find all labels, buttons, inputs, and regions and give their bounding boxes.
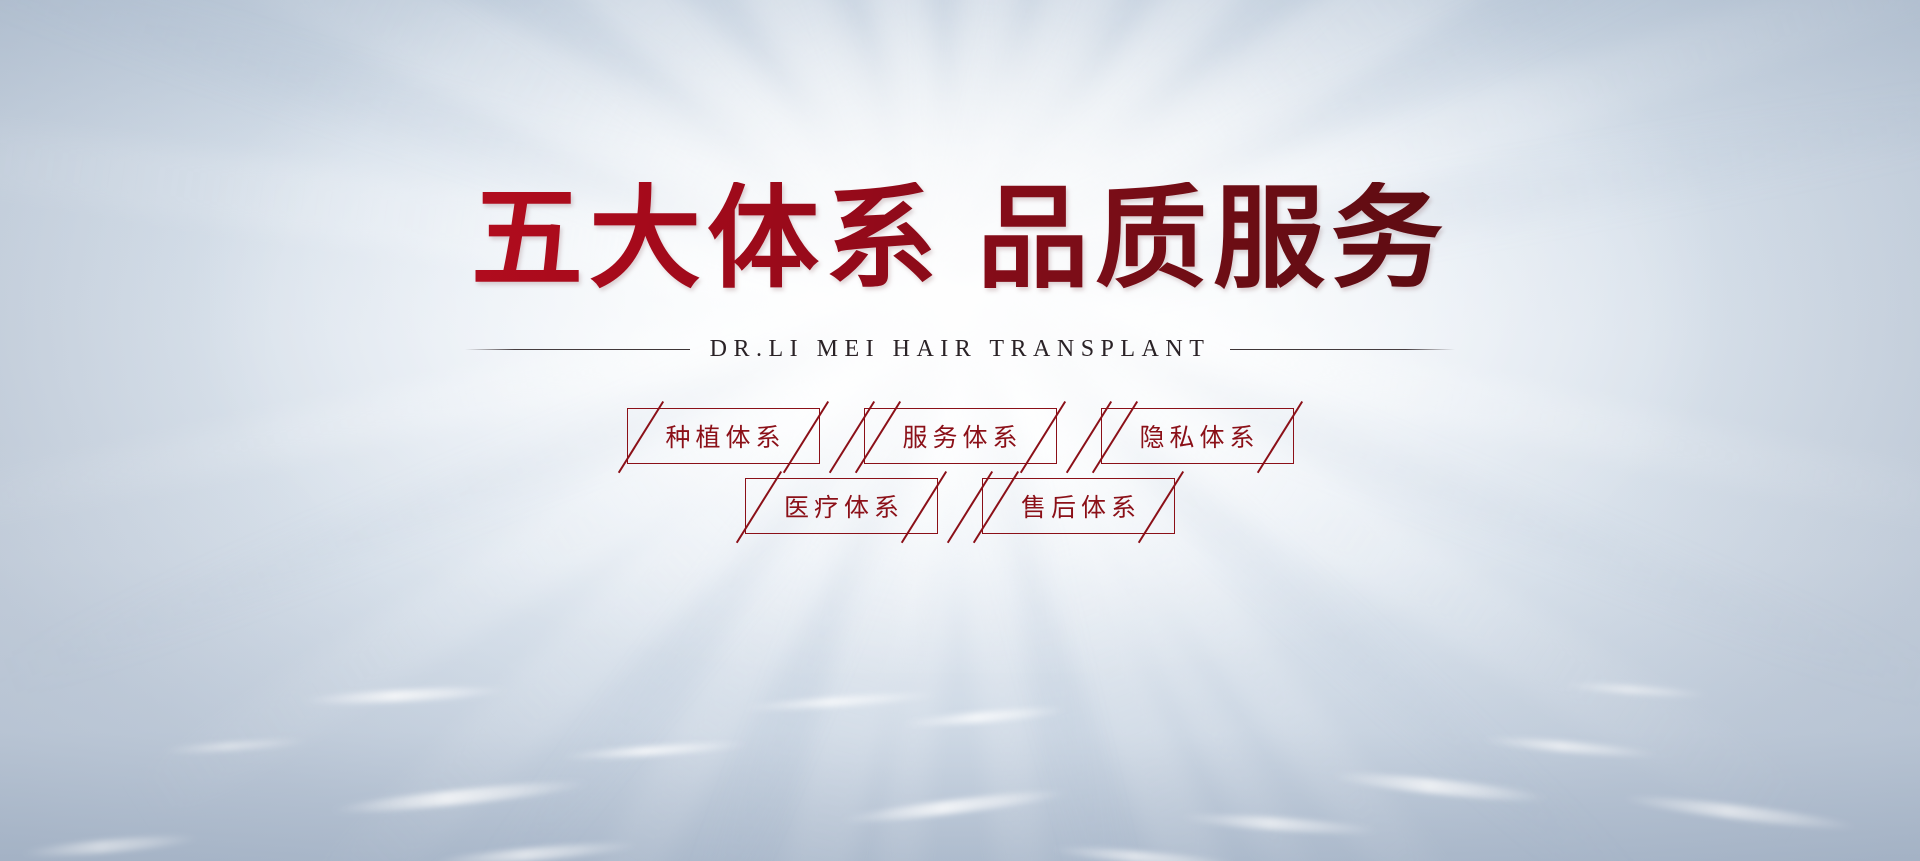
slash-icon (1257, 401, 1303, 473)
subtitle-rule-right (1230, 349, 1455, 350)
slash-icon (901, 471, 947, 543)
slash-icon (1020, 401, 1066, 473)
system-badge-label: 隐私体系 (1134, 418, 1259, 454)
banner-subtitle: DR.LI MEI HAIR TRANSPLANT (710, 336, 1211, 363)
slash-icon (617, 401, 663, 473)
promotional-banner: 五大体系 品质服务 DR.LI MEI HAIR TRANSPLANT 种植体系… (0, 0, 1920, 861)
system-badge-medical[interactable]: 医疗体系 (745, 478, 938, 534)
slash-icon (854, 401, 900, 473)
system-badge-group: 种植体系 服务体系 隐私体系 (627, 408, 1294, 534)
slash-icon (1138, 471, 1184, 543)
system-badge-service[interactable]: 服务体系 (864, 408, 1057, 464)
system-badge-row-1: 种植体系 服务体系 隐私体系 (627, 408, 1294, 464)
system-badge-aftersales[interactable]: 售后体系 (982, 478, 1175, 534)
system-badge-label: 医疗体系 (779, 488, 904, 524)
slash-icon (1091, 401, 1137, 473)
banner-subtitle-row: DR.LI MEI HAIR TRANSPLANT (465, 336, 1455, 363)
system-badge-row-2: 医疗体系 售后体系 (745, 478, 1175, 534)
system-badge-planting[interactable]: 种植体系 (627, 408, 820, 464)
banner-title: 五大体系 品质服务 (471, 182, 1449, 300)
system-badge-label: 种植体系 (660, 418, 785, 454)
subtitle-rule-left (465, 349, 690, 350)
banner-content: 五大体系 品质服务 DR.LI MEI HAIR TRANSPLANT 种植体系… (0, 0, 1920, 861)
slash-icon (736, 471, 782, 543)
system-badge-label: 服务体系 (897, 418, 1022, 454)
system-badge-privacy[interactable]: 隐私体系 (1101, 408, 1294, 464)
slash-icon (973, 471, 1019, 543)
slash-icon (783, 401, 829, 473)
system-badge-label: 售后体系 (1016, 488, 1141, 524)
